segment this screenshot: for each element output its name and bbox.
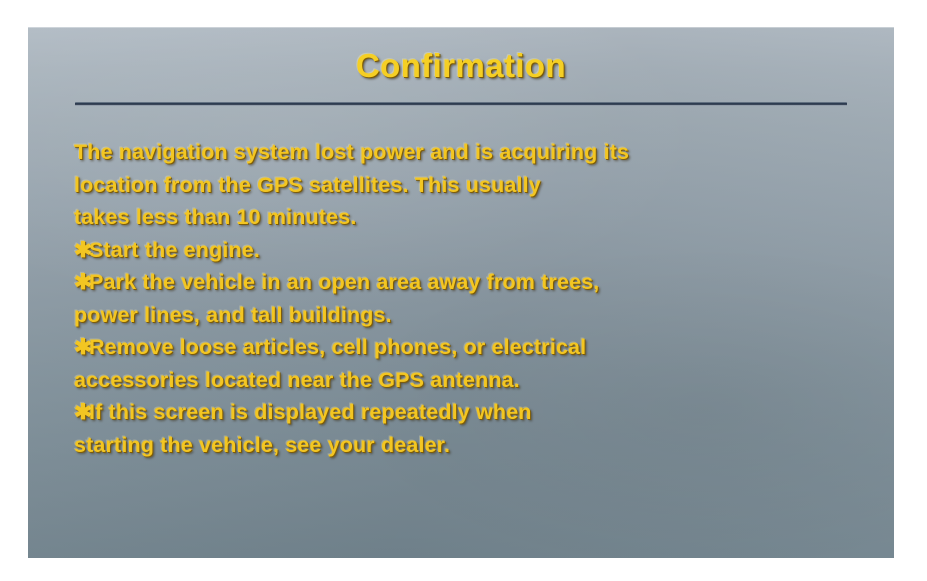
- message-line-text: power lines, and tall buildings.: [74, 303, 392, 327]
- message-line: accessories located near the GPS antenna…: [74, 364, 870, 397]
- message-line-text: starting the vehicle, see your dealer.: [74, 433, 450, 457]
- message-line-text: accessories located near the GPS antenna…: [74, 368, 520, 392]
- bullet-asterisk-icon: ✱: [74, 234, 89, 267]
- message-line-text: Start the engine.: [89, 238, 260, 262]
- message-line-text: Park the vehicle in an open area away fr…: [89, 270, 599, 294]
- message-line: location from the GPS satellites. This u…: [74, 169, 870, 202]
- message-line-text: takes less than 10 minutes.: [74, 205, 356, 229]
- title-separator: [75, 102, 847, 106]
- message-line-text: location from the GPS satellites. This u…: [74, 173, 541, 197]
- screen-outer-frame: Confirmation The navigation system lost …: [0, 0, 927, 581]
- bullet-asterisk-icon: ✱: [74, 331, 89, 364]
- message-line: The navigation system lost power and is …: [74, 136, 870, 169]
- message-line-text: If this screen is displayed repeatedly w…: [89, 400, 532, 424]
- message-line-text: The navigation system lost power and is …: [74, 140, 629, 164]
- message-bullet-line: ✱Park the vehicle in an open area away f…: [74, 266, 870, 299]
- message-line: starting the vehicle, see your dealer.: [74, 429, 870, 462]
- message-bullet-line: ✱Remove loose articles, cell phones, or …: [74, 331, 870, 364]
- message-line-text: Remove loose articles, cell phones, or e…: [89, 335, 586, 359]
- message-line: power lines, and tall buildings.: [74, 299, 870, 332]
- message-bullet-line: ✱If this screen is displayed repeatedly …: [74, 396, 870, 429]
- bullet-asterisk-icon: ✱: [74, 396, 89, 429]
- title-bar: Confirmation: [28, 49, 894, 84]
- page-title: Confirmation: [356, 49, 566, 84]
- message-bullet-line: ✱Start the engine.: [74, 234, 870, 267]
- message-body: The navigation system lost power and is …: [74, 136, 870, 461]
- navigation-confirmation-screen: Confirmation The navigation system lost …: [28, 27, 894, 558]
- message-line: takes less than 10 minutes.: [74, 201, 870, 234]
- bullet-asterisk-icon: ✱: [74, 266, 89, 299]
